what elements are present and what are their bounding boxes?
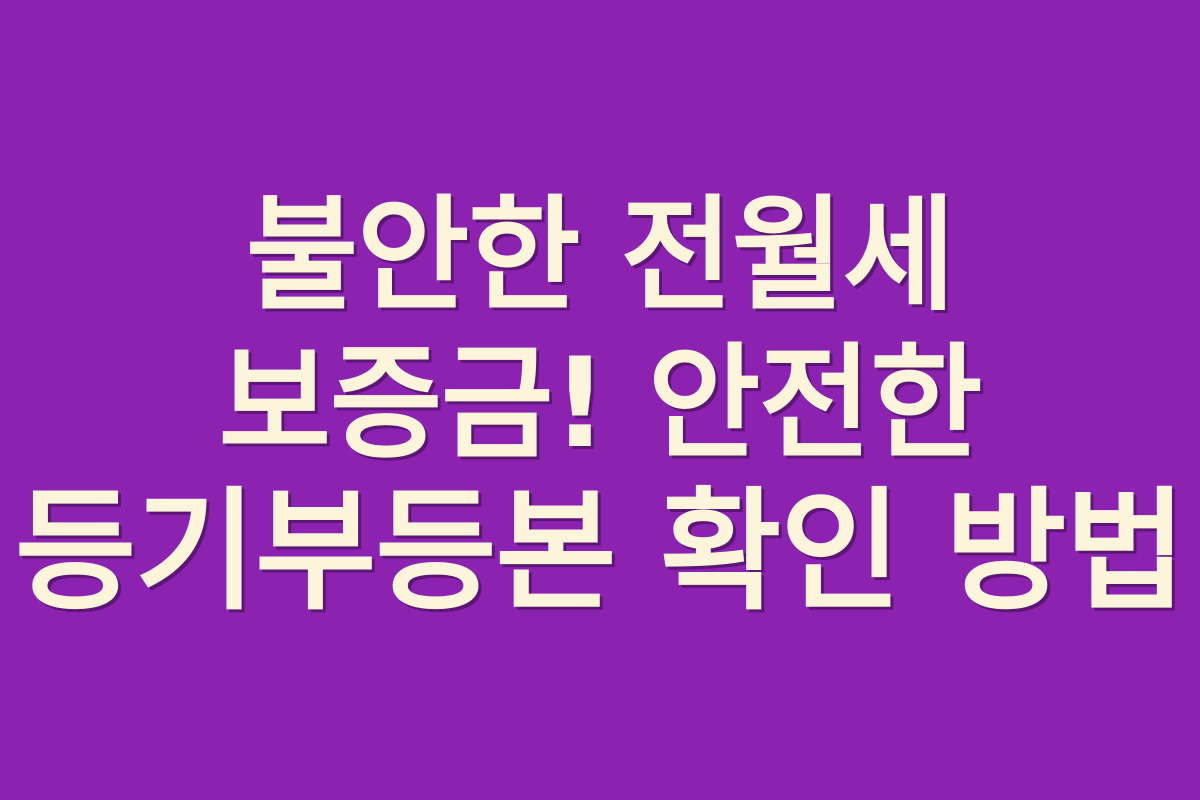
title-line-2: 보증금! 안전한 (9, 330, 1191, 478)
title-line-3: 등기부등본 확인 방법 (0, 478, 1200, 626)
title-line-1: 불안한 전월세 (9, 182, 1191, 330)
title-block: 불안한 전월세 보증금! 안전한 등기부등본 확인 방법 (0, 0, 1200, 800)
thumbnail-card: 불안한 전월세 보증금! 안전한 등기부등본 확인 방법 (0, 0, 1200, 800)
